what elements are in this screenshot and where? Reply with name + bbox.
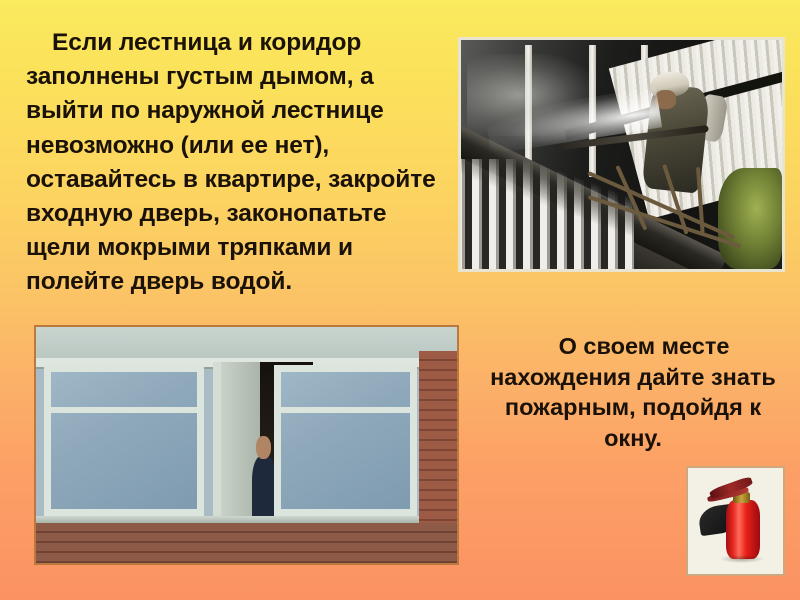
open-window-photo xyxy=(34,325,459,565)
firefighter-photo xyxy=(458,37,785,272)
pane-divider xyxy=(281,407,410,413)
secondary-instruction-text: О своем месте нахождения дайте знать пож… xyxy=(479,331,787,453)
person-one-head xyxy=(256,436,271,459)
main-instruction-text: Если лестница и коридор заполнены густым… xyxy=(26,26,436,300)
pane-divider xyxy=(51,407,197,413)
slide-root: Если лестница и коридор заполнены густым… xyxy=(0,0,800,600)
extinguisher-shadow xyxy=(720,555,764,563)
person-one xyxy=(252,456,276,518)
firefighter-photo-content xyxy=(461,40,782,269)
extinguisher-cylinder xyxy=(726,500,760,559)
brick-wall-below xyxy=(36,523,457,563)
window-pane-left xyxy=(44,365,204,516)
window-pane-right xyxy=(274,365,417,516)
ladder xyxy=(589,164,756,242)
fire-extinguisher-photo xyxy=(686,466,785,576)
brick-wall-right xyxy=(419,351,457,540)
